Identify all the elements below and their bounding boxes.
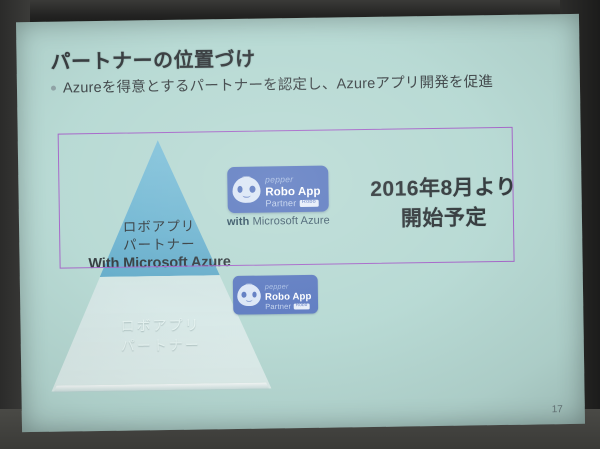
badge-caption-rest: Microsoft Azure <box>249 215 330 228</box>
badge-group-with-azure: pepper Robo App Partner Robo with Micros… <box>226 166 330 228</box>
badge-row: pepper Robo App Partner Robo <box>232 170 322 209</box>
badge-text: pepper Robo App Partner Robo <box>265 170 322 209</box>
badge-tier-row: Partner Robo <box>265 198 320 208</box>
date-callout: 2016年8月より 開始予定 <box>348 172 539 236</box>
badge-chip-2: Robo <box>294 303 310 309</box>
pepper-antenna-icon-2 <box>245 283 253 287</box>
badge-caption-strong: with <box>227 216 250 228</box>
date-callout-line1: 2016年8月より <box>348 172 538 205</box>
badge-tier-row-2: Partner Robo <box>265 302 312 311</box>
slide-title: パートナーの位置づけ <box>50 43 255 75</box>
slide-content: パートナーの位置づけ Azureを得意とするパートナーを認定し、Azureアプリ… <box>16 14 585 432</box>
badge-caption-with-azure: with Microsoft Azure <box>227 215 330 229</box>
pepper-robo-app-partner-badge-2: pepper Robo App Partner Robo <box>233 275 319 315</box>
badge-tier-2: Partner <box>265 303 291 311</box>
badge-brand: pepper <box>265 174 293 184</box>
badge-group-plain: pepper Robo App Partner Robo <box>233 275 335 322</box>
badge-brand-2: pepper <box>265 282 289 291</box>
pyramid-lower-line2: パートナー <box>51 334 271 357</box>
date-callout-line2: 開始予定 <box>349 203 539 236</box>
slide-page-number: 17 <box>552 404 563 415</box>
pepper-mouth-icon <box>242 193 250 198</box>
slide-subtitle-row: Azureを得意とするパートナーを認定し、Azureアプリ開発を促進 <box>51 70 493 98</box>
badge-row-2: pepper Robo App Partner Robo <box>237 278 312 311</box>
badge-text-2: pepper Robo App Partner Robo <box>265 278 313 311</box>
pepper-robot-face-icon <box>232 177 260 203</box>
badge-tier: Partner <box>265 199 296 209</box>
pepper-robo-app-partner-badge: pepper Robo App Partner Robo <box>227 166 329 213</box>
photo-scene: パートナーの位置づけ Azureを得意とするパートナーを認定し、Azureアプリ… <box>0 0 600 449</box>
pepper-eye-right-icon <box>250 186 256 193</box>
badge-chip: Robo <box>299 200 318 207</box>
pepper-antenna-icon <box>241 176 251 181</box>
bullet-dot-icon <box>51 86 56 91</box>
projected-slide: パートナーの位置づけ Azureを得意とするパートナーを認定し、Azureアプリ… <box>16 14 585 432</box>
pepper-robot-face-icon-2 <box>237 284 261 306</box>
pepper-eye-right-icon-2 <box>252 292 257 298</box>
pepper-eye-left-icon <box>237 186 243 193</box>
pepper-mouth-icon-2 <box>246 298 253 302</box>
slide-subtitle: Azureを得意とするパートナーを認定し、Azureアプリ開発を促進 <box>63 70 493 97</box>
